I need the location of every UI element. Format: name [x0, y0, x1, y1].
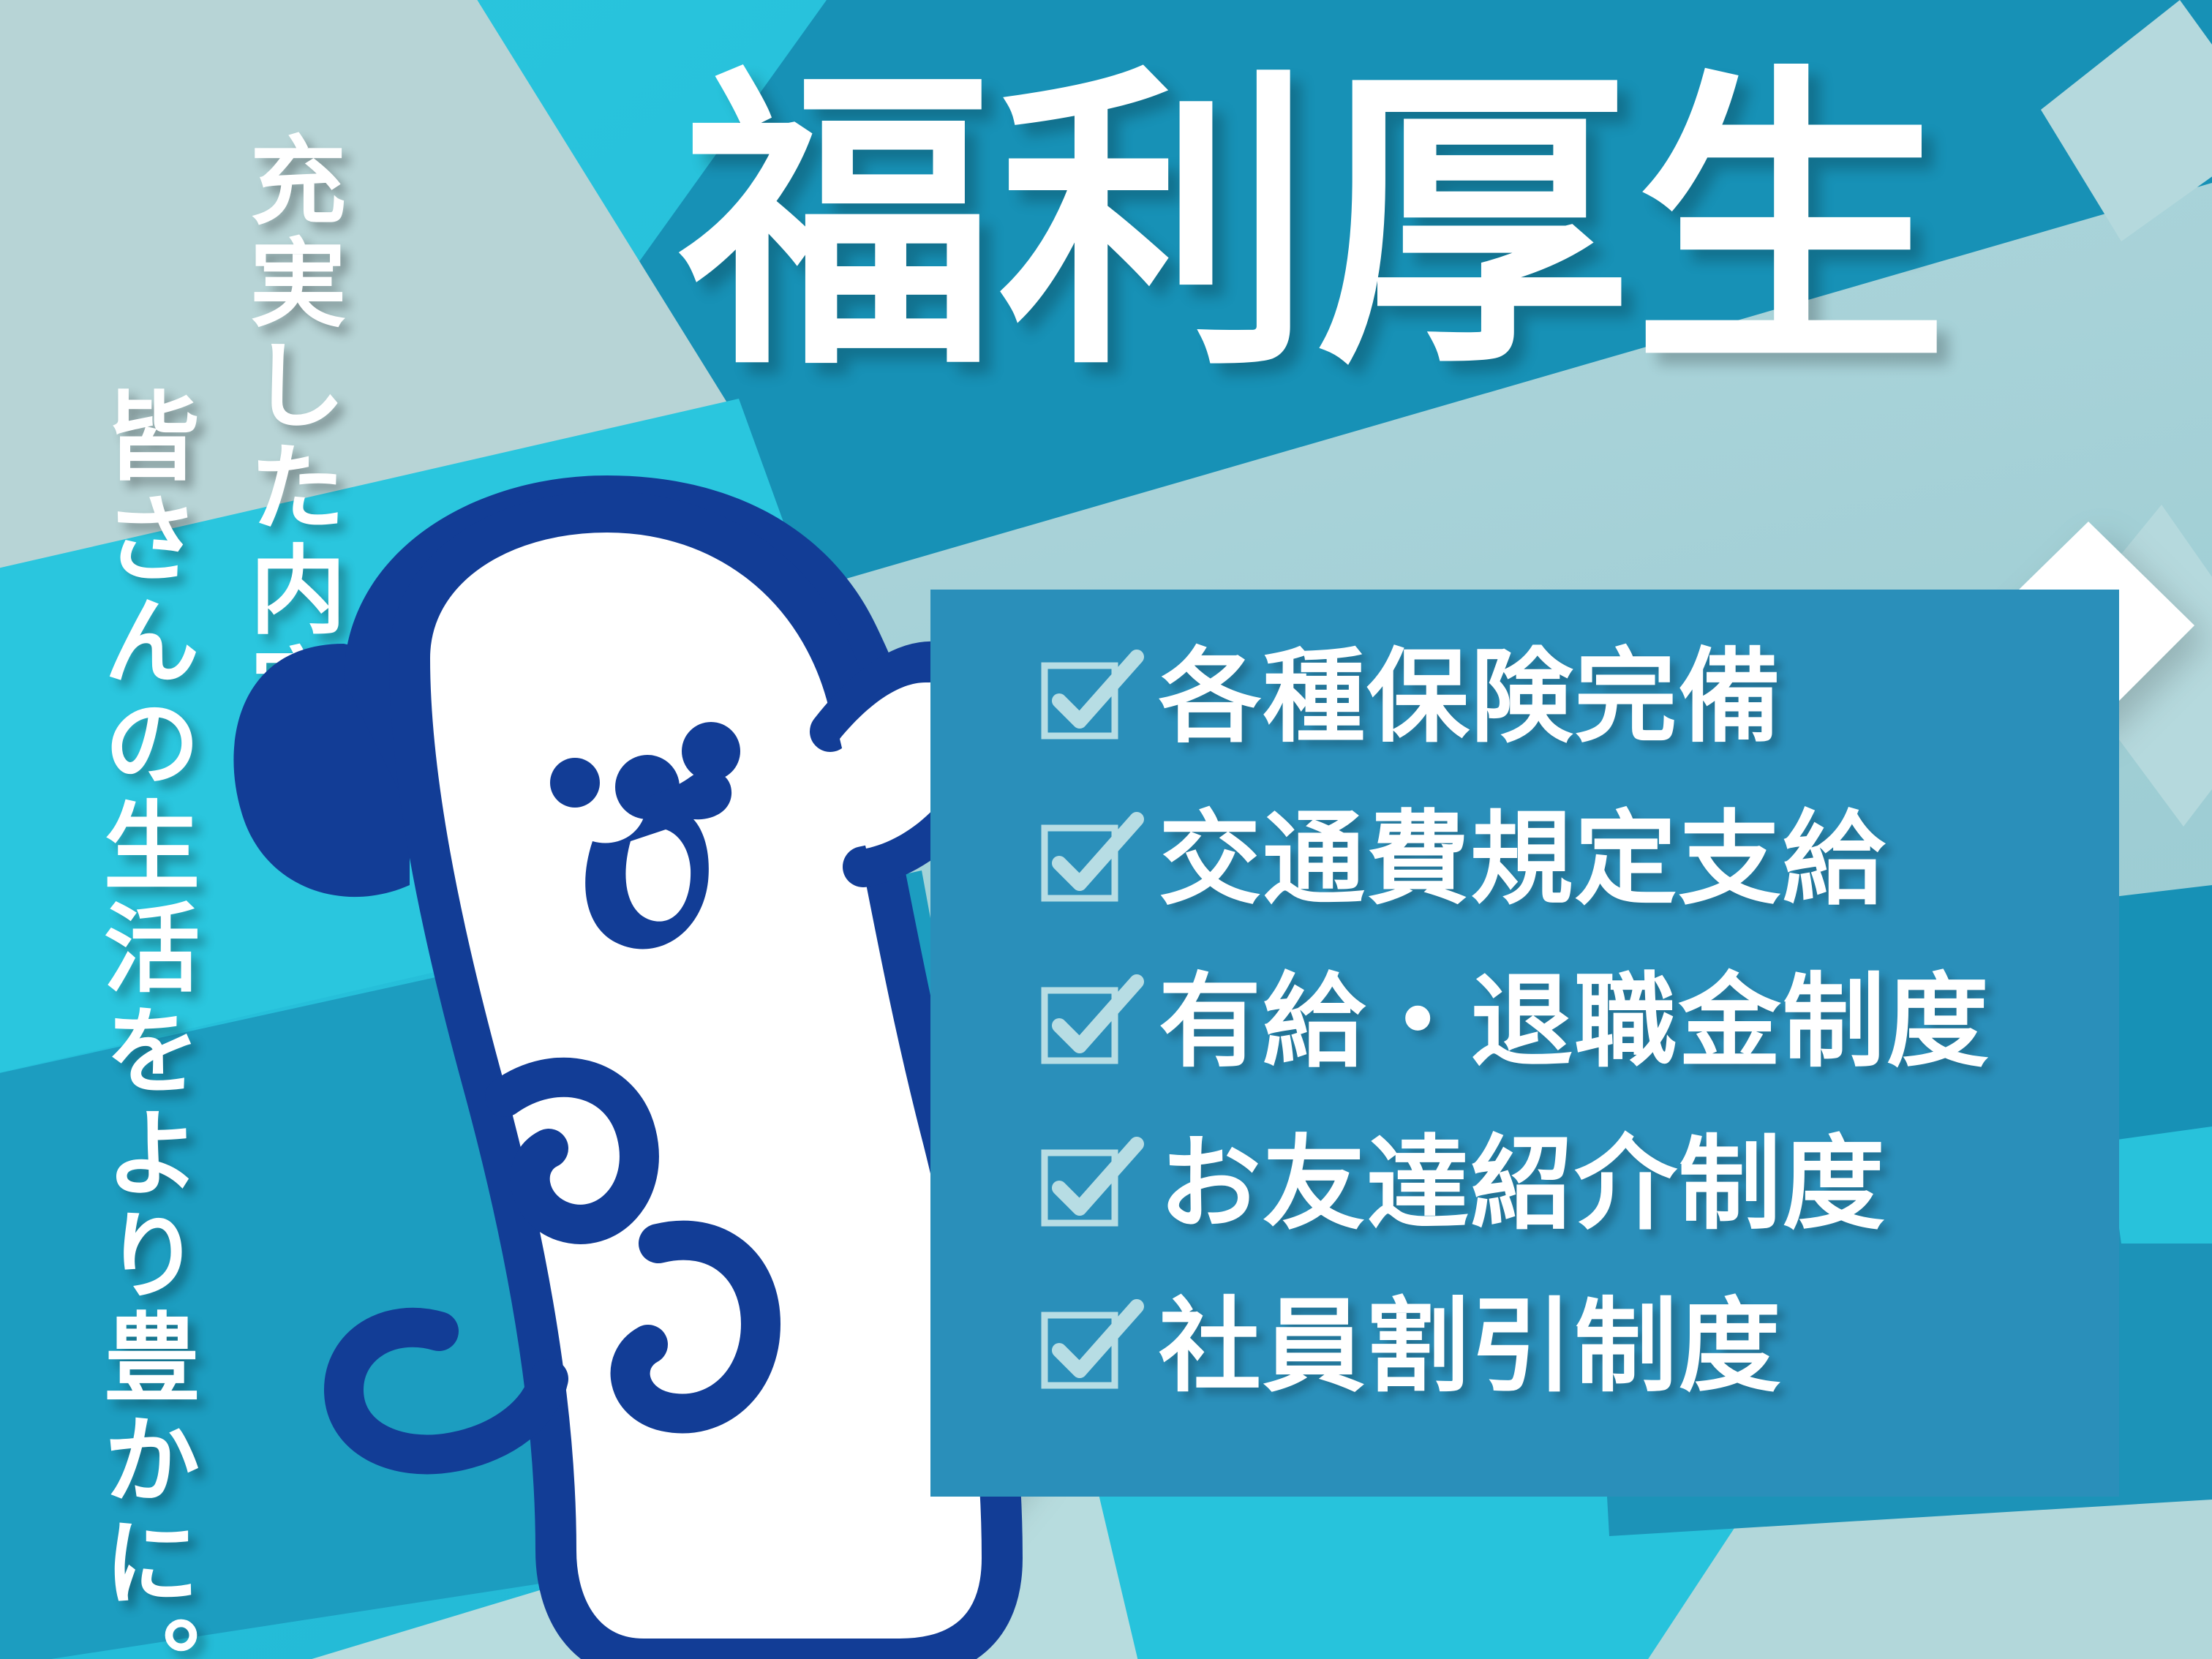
benefit-item: 各種保険完備 — [1040, 625, 1990, 771]
benefit-label: 有給・退職金制度 — [1159, 971, 1990, 1074]
benefit-label: お友達紹介制度 — [1159, 1134, 1886, 1236]
benefit-label: 社員割引制度 — [1159, 1296, 1783, 1399]
benefits-list: 各種保険完備 交通費規定支給 有給・退職金制 — [1040, 625, 1990, 1421]
checkbox-checked-icon — [1040, 818, 1125, 903]
checkbox-checked-icon — [1040, 1143, 1125, 1227]
mascot-mouth-inner — [625, 829, 691, 922]
checkbox-checked-icon — [1040, 1305, 1125, 1390]
benefit-item: 有給・退職金制度 — [1040, 949, 1990, 1096]
benefit-item: お友達紹介制度 — [1040, 1112, 1990, 1258]
benefit-item: 交通費規定支給 — [1040, 787, 1990, 933]
benefits-panel: 各種保険完備 交通費規定支給 有給・退職金制 — [930, 590, 2119, 1497]
mascot-group — [233, 475, 1002, 1659]
checkbox-checked-icon — [1040, 655, 1125, 740]
mascot-foot — [344, 1328, 549, 1455]
mascot-eye-left — [550, 758, 600, 808]
benefit-label: 各種保険完備 — [1159, 647, 1783, 749]
benefits-poster: 充実した内容で 皆さんの生活をより豊かに。 福利厚生 — [0, 0, 2212, 1659]
benefit-label: 交通費規定支給 — [1159, 809, 1886, 911]
benefit-item: 社員割引制度 — [1040, 1274, 1990, 1421]
checkbox-checked-icon — [1040, 980, 1125, 1065]
